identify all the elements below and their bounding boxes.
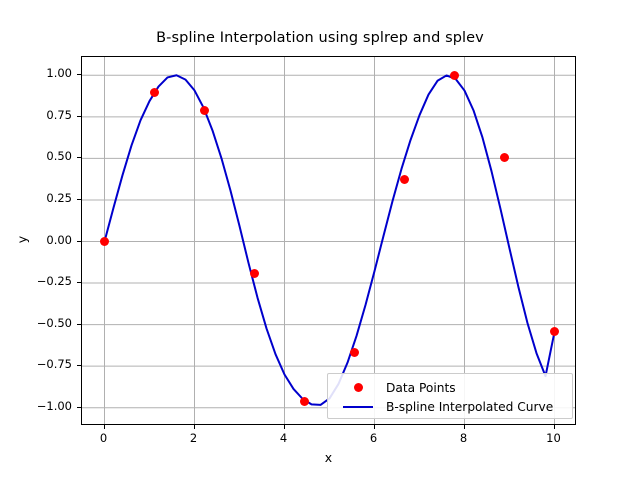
x-tick-mark xyxy=(464,425,465,429)
y-tick-mark xyxy=(77,199,81,200)
grid-lines xyxy=(82,57,575,424)
y-tick-label: 0.00 xyxy=(0,233,72,247)
bspline-interpolated-curve xyxy=(105,75,555,405)
data-point-marker xyxy=(500,153,509,162)
y-tick-mark xyxy=(77,365,81,366)
chart-title: B-spline Interpolation using splrep and … xyxy=(0,30,640,46)
y-tick-mark xyxy=(77,241,81,242)
legend-entry-bspline-curve: B-spline Interpolated Curve xyxy=(336,397,566,416)
data-point-marker xyxy=(150,88,159,97)
y-tick-label: −0.75 xyxy=(0,357,72,371)
y-tick-mark xyxy=(77,282,81,283)
data-point-marker xyxy=(250,269,259,278)
y-tick-mark xyxy=(77,157,81,158)
y-tick-label: −1.00 xyxy=(0,399,72,413)
x-tick-mark xyxy=(284,425,285,429)
x-tick-label: 10 xyxy=(524,431,584,445)
plot-axes xyxy=(81,56,576,425)
data-point-marker xyxy=(350,348,359,357)
legend-line-segment-icon xyxy=(336,406,380,408)
legend-label: Data Points xyxy=(380,381,456,395)
y-tick-label: 1.00 xyxy=(0,66,72,80)
y-tick-mark xyxy=(77,116,81,117)
legend-label: B-spline Interpolated Curve xyxy=(380,400,553,414)
x-tick-label: 2 xyxy=(164,431,224,445)
plot-area xyxy=(82,57,575,424)
bspline-curve-svg xyxy=(82,57,575,424)
matplotlib-figure: B-spline Interpolation using splrep and … xyxy=(0,0,640,480)
x-tick-mark xyxy=(554,425,555,429)
x-tick-label: 8 xyxy=(434,431,494,445)
y-tick-mark xyxy=(77,324,81,325)
x-tick-label: 0 xyxy=(74,431,134,445)
y-tick-label: 0.50 xyxy=(0,149,72,163)
x-tick-mark xyxy=(194,425,195,429)
y-tick-label: −0.50 xyxy=(0,316,72,330)
y-tick-label: −0.25 xyxy=(0,274,72,288)
x-tick-mark xyxy=(104,425,105,429)
x-tick-mark xyxy=(374,425,375,429)
legend-marker-dot-icon xyxy=(336,383,380,392)
y-axis-label: y xyxy=(15,210,30,270)
x-tick-label: 4 xyxy=(254,431,314,445)
y-tick-label: 0.75 xyxy=(0,108,72,122)
x-axis-label: x xyxy=(81,450,576,465)
x-tick-label: 6 xyxy=(344,431,404,445)
data-point-marker xyxy=(100,237,109,246)
data-point-marker xyxy=(200,106,209,115)
y-tick-mark xyxy=(77,74,81,75)
y-tick-label: 0.25 xyxy=(0,191,72,205)
y-tick-mark xyxy=(77,407,81,408)
chart-legend: Data Points B-spline Interpolated Curve xyxy=(327,373,573,419)
legend-entry-data-points: Data Points xyxy=(336,378,566,397)
